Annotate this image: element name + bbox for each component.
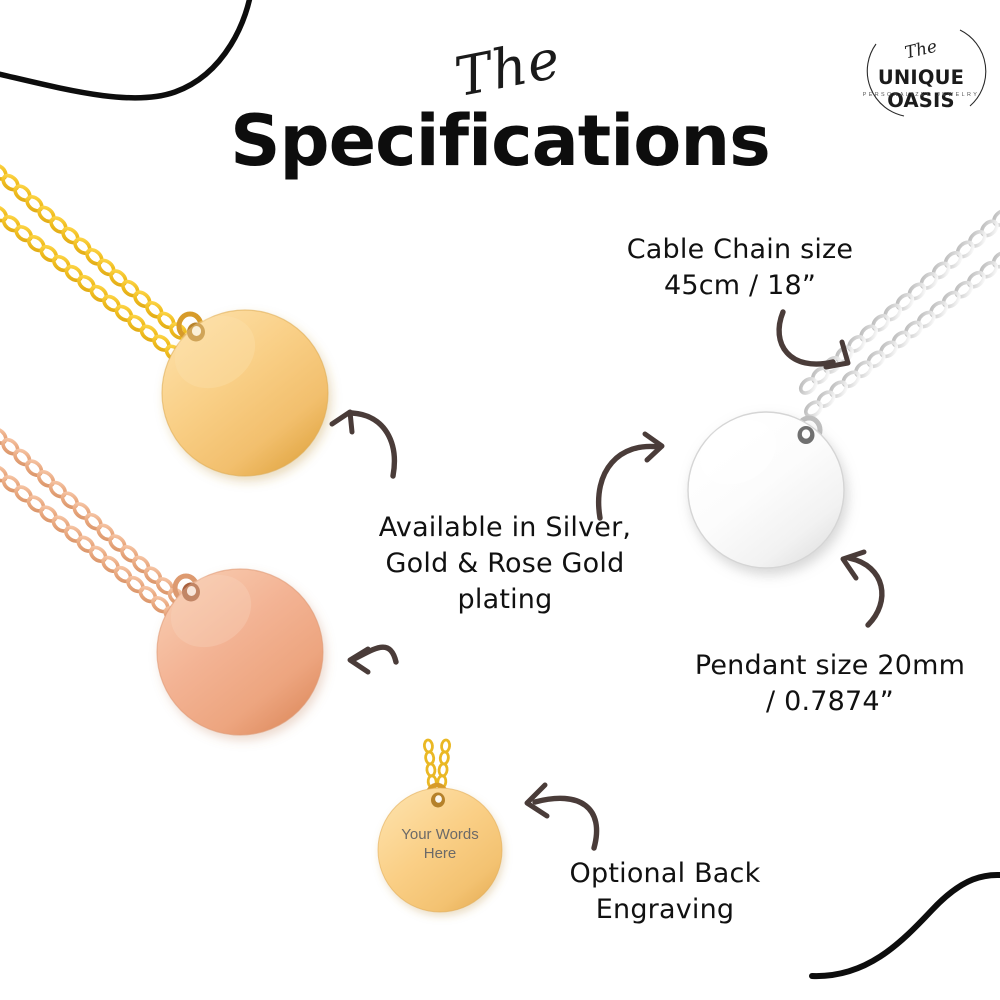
logo-tagline: PERSONALIZED JEWELRY bbox=[848, 92, 994, 98]
gold-chain-strand-2 bbox=[0, 204, 197, 373]
arrow-to-gold-pendant bbox=[332, 412, 394, 476]
gold-jump-ring bbox=[179, 314, 201, 338]
decor-line-bottom-right bbox=[812, 875, 1000, 976]
brand-logo[interactable]: The UNIQUE OASIS PERSONALIZED JEWELRY bbox=[848, 22, 994, 126]
engraving-sample-text: Your Words Here bbox=[382, 826, 498, 864]
rose-gold-chain-strand-1 bbox=[0, 426, 187, 606]
engraved-pendant-chain-strand-2 bbox=[436, 740, 450, 801]
callout-pendant-size: Pendant size 20mm / 0.7874” bbox=[660, 648, 1000, 720]
arrow-to-rose-gold-pendant bbox=[350, 647, 396, 672]
decor-line-top-left bbox=[0, 0, 252, 98]
engraved-pendant-chain-strand-1 bbox=[424, 740, 438, 801]
rose-gold-chain-strand-2 bbox=[0, 464, 183, 624]
callout-available-platings: Available in Silver, Gold & Rose Gold pl… bbox=[345, 510, 665, 618]
gold-pendant-disc bbox=[162, 302, 328, 476]
silver-pendant-disc bbox=[688, 407, 844, 568]
arrow-to-silver-pendant bbox=[599, 434, 662, 518]
callout-cable-chain-size: Cable Chain size 45cm / 18” bbox=[590, 232, 890, 304]
specifications-graphic: Your Words Here bbox=[0, 0, 1000, 1000]
logo-brand-name: UNIQUE OASIS bbox=[848, 66, 994, 112]
arrow-to-silver-pendant-size bbox=[843, 552, 882, 625]
rose-gold-pendant-disc bbox=[157, 561, 323, 735]
arrow-to-silver-chain bbox=[779, 312, 848, 367]
silver-jump-ring bbox=[798, 418, 820, 442]
engraved-pendant-jump-ring bbox=[428, 785, 446, 805]
rose-gold-jump-ring bbox=[175, 576, 197, 600]
callout-optional-back-engraving: Optional Back Engraving bbox=[520, 856, 810, 928]
arrow-to-engraved-pendant bbox=[527, 785, 597, 848]
